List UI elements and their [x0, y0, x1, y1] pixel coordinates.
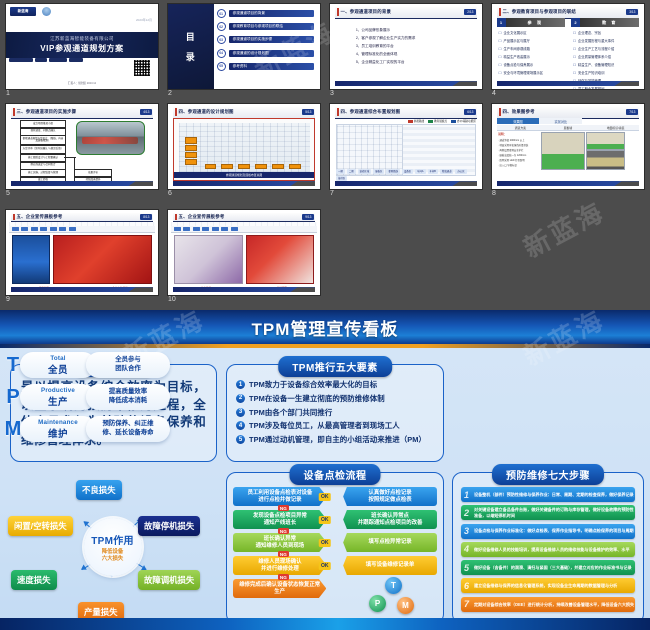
bullet: 4、管理标准化的全面体现 [356, 52, 482, 57]
letter-cn: 全员 [48, 362, 68, 376]
plan-marker [185, 152, 197, 158]
header-accent [175, 108, 177, 116]
flow-node: 参观通道规划方案设计 （路线、内容及展板规划） [20, 135, 67, 145]
flow-ok-badge: OK [319, 516, 332, 524]
toolbar-icons[interactable] [174, 227, 238, 231]
panel-seven-steps: 预防维修七大步骤 1 设备整机（部件）预防性维修与保养作业：日常、周期、定期的检… [452, 472, 644, 624]
page-indicator: 6/13 [464, 109, 476, 115]
seven-step: 3 设备点检与保养作业标准化：做好点检表、保养作业指导书，明确点检保养的项目与周… [461, 524, 635, 539]
slide-thumbnail-5[interactable]: 三、参观通道项目的实施步骤 4/13 成立项目推进小组 现状调查、问题点确认 参… [6, 104, 158, 189]
plan-chip: 车间B [428, 169, 438, 174]
slide-title: 四、效果图参考 [503, 109, 535, 115]
slide-number-10: 10 [168, 296, 176, 303]
plan-chip: 办公区 [455, 169, 466, 174]
slide-number-9: 9 [6, 296, 10, 303]
slide-thumbnail-10[interactable]: 五、企业宣传展板参考 9/13 ·企业愿景· ·发展历程· [168, 210, 320, 295]
letter-en: Total [50, 355, 65, 362]
letter-pill-word: Productive 生产 [20, 384, 96, 410]
slide-number-3: 3 [330, 90, 334, 97]
column-item: 安全与环境管理现场展示区 [499, 70, 565, 75]
image-icon[interactable] [59, 227, 66, 231]
seven-step: 2 对关键设备建立备品备件台账，做好关键备件的订购与库存管理，做好设备故障的预防… [461, 505, 635, 520]
flow-ok-badge: OK [319, 562, 332, 570]
plan-chip-row: 一期 二期 装修区域 展板区 参观路线 设备区 车间A 车间B 物流通道 办公区… [336, 169, 476, 181]
five-item: 4 TPM涉及每位员工，从最高管理者到现场工人 [236, 421, 436, 430]
slide-thumbnail-grid: 新蓝海 2023年12月 江苏新蓝海智能装备有限公司 VIP参观通道规划方案 汇… [0, 0, 650, 310]
flow-rows: 员工利用设备点检表对设备进行点检并做记录 OK 认真做好点检记录按照规定做点检表… [233, 487, 437, 619]
plan-marker [272, 164, 284, 170]
five-item: 5 TPM通过动机管理，即自主的小组活动来推进（PM） [236, 435, 436, 444]
slide-footer [335, 181, 478, 186]
five-number: 2 [236, 394, 245, 403]
flow-ng-badge: NG [278, 574, 289, 580]
loss-center: TPM作用 降低设备六大损失 [84, 518, 142, 576]
toc-row: 01 参观通道项目的背景 [217, 9, 314, 18]
five-text: TPM在设备一生建立彻底的预防维修体制 [249, 394, 385, 403]
plan-chip: 物流通道 [440, 169, 454, 174]
render-tabs[interactable]: 效果图 实景对比 [497, 118, 640, 124]
column-item: 企业生产工艺与流程介绍 [573, 46, 639, 51]
flow-side-node: 效果评价 [74, 169, 111, 177]
panel-tpm-letters: T Total 全员 全员参与团队合作 P Productive 生产 提高质量… [0, 350, 190, 454]
slide-thumbnail-9[interactable]: 五、企业宣传展板参考 8/13 ·党建展板· ·企业文化展板· [6, 210, 158, 295]
panel-title-seven: 预防维修七大步骤 [492, 464, 604, 485]
note-line: · 通道净宽 2000mm 以上 [498, 138, 538, 142]
seven-rows: 1 设备整机（部件）预防性维修与保养作业：日常、周期、定期的检查保养，做好保养记… [461, 487, 635, 619]
letter-desc: 全员参与团队合作 [115, 356, 141, 373]
flow-node: 方案评审（领导层确认 与意见反馈） [20, 145, 67, 155]
column-item: 员工职业发展规划 [573, 86, 639, 89]
plan-chip: 二期 [347, 169, 356, 174]
subtab-item[interactable]: 通道方案 [497, 125, 545, 130]
step-number: 2 [464, 508, 469, 518]
step-number: 6 [464, 581, 469, 591]
loss-chip-right-top: 故障停机损失 [138, 516, 200, 536]
step-number: 4 [464, 544, 469, 554]
render-image-top [586, 132, 624, 150]
toc-number: 04 [217, 49, 226, 58]
slide-header: 四、效果图参考 7/13 [497, 107, 640, 119]
step-number: 3 [464, 526, 469, 536]
slide-title: 二、参观教育项目与参观项目的联结 [503, 9, 576, 15]
plan-chip: 参观路线 [386, 169, 400, 174]
editor-toolbar[interactable] [9, 222, 155, 233]
legend-item: 办公/辅助功能区 [451, 119, 476, 123]
plan-marker [238, 164, 250, 170]
header-accent [175, 214, 177, 220]
column-item: 精益生产、设备管理知识 [573, 62, 639, 67]
toc-items: 01 参观通道项目的背景 02 参观教育项目与参观项目的联结 03 参观通道项目… [217, 9, 314, 84]
slide-title: 五、企业宣传展板参考 [17, 214, 63, 220]
flow-row: 维修完成后确认设备状态恢复正常生产 [233, 579, 339, 598]
page-indicator: 2/13 [464, 9, 476, 15]
letter-pill-word: Total 全员 [20, 352, 96, 378]
toolbar-icons[interactable] [12, 227, 76, 231]
insert-icon[interactable] [202, 227, 209, 231]
slide-thumbnail-1[interactable]: 新蓝海 2023年12月 江苏新蓝海智能装备有限公司 VIP参观通道规划方案 汇… [6, 4, 158, 89]
letter-row-p: P Productive 生产 提高质量效率降低成本消耗 [0, 382, 190, 412]
render-notes: 说明： · 通道净宽 2000mm 以上 · 地面采用环氧绿色防滑涂装 · 两侧… [498, 132, 538, 169]
render-image-bottom [586, 150, 624, 170]
column-number: 2 [571, 18, 580, 27]
letter-pill-desc: 全员参与团队合作 [86, 352, 170, 378]
board-footer [0, 618, 650, 630]
five-text: TPM通过动机管理，即自主的小组活动来推进（PM） [249, 435, 426, 444]
plan-chip: 接待区 [336, 176, 347, 181]
column-right: 2 教 育 企业理念、宗旨 企业发展历程与重大事件 企业生产工艺与流程介绍 企业… [571, 18, 639, 81]
toc-number: 03 [217, 35, 226, 44]
toc-text: 参观通道项目的背景 [229, 10, 314, 17]
plan-chip: 车间A [415, 169, 425, 174]
step-text: 建立设备维修与保养的信息化管理系统，实现设备全生命周期的数据管理与分析 [474, 583, 617, 588]
panel-five-elements: TPM推行五大要素 1 TPM致力于设备综合效率最大化的目标 2 TPM在设备一… [226, 364, 444, 462]
bold-icon[interactable] [12, 227, 19, 231]
panel-title-flow: 设备点检流程 [290, 464, 381, 485]
loss-chip-left-bottom: 速度损失 [11, 570, 57, 590]
bullet: 1、公司品牌形象展示 [356, 28, 482, 33]
slide-number-2: 2 [168, 90, 172, 97]
shape-icon[interactable] [212, 227, 219, 231]
column-item: 企业质量管理体系介绍 [573, 54, 639, 59]
slide-title: 四、参观通道的设计规划图 [179, 109, 234, 115]
slide-footer [497, 81, 640, 86]
seven-step: 4 做好设备维修人员的技能培训，提高设备维修人员的维修技能与设备维护的效率、水平 [461, 542, 635, 557]
seven-step: 1 设备整机（部件）预防性维修与保养作业：日常、周期、定期的检查保养，做好保养记… [461, 487, 635, 502]
slide-footer [497, 181, 640, 186]
site-photo [76, 121, 145, 155]
editor-toolbar[interactable] [171, 222, 317, 233]
slide-thumbnail-3[interactable]: 一、参观通道项目的背景 2/13 1、公司品牌形象展示 2、客户参观了解企业生产… [330, 4, 482, 89]
tab-render[interactable]: 效果图 [497, 118, 540, 124]
panel-title-five: TPM推行五大要素 [278, 356, 392, 377]
slide-thumbnail-2[interactable]: 目 录 01 参观通道项目的背景 02 参观教育项目与参观项目的联结 03 参观… [168, 4, 320, 89]
column-item: 企业发展历程与重大事件 [573, 38, 639, 43]
step-text: 做好设备（含备件）的润滑、清扫与紧固（三大基础），并建立对应的作业标准书与记录 [474, 565, 632, 570]
plan-legend: 参观路线 教育展板点 办公/辅助功能区 [408, 119, 476, 123]
flow-left-box: 维修人员现场确认并进行维修处理 [233, 556, 327, 575]
factory-layout-plan: 参观通道规划及展板布置总图 [173, 118, 316, 180]
toc-label-1: 目 [186, 30, 196, 43]
loss-center-title: TPM作用 [91, 532, 134, 547]
notes-title: 说明： [498, 132, 538, 136]
flow-connector [74, 157, 75, 172]
table-icon[interactable] [69, 227, 76, 231]
five-item: 3 TPM由各个部门共同推行 [236, 408, 436, 417]
page-indicator: 4/13 [140, 109, 152, 115]
flow-left-box: 维修完成后确认设备状态恢复正常生产 [233, 579, 326, 598]
toc-number: 01 [217, 9, 226, 18]
plan-marker [185, 145, 197, 151]
slide-footer [11, 181, 154, 186]
step-text: 设备整机（部件）预防性维修与保养作业：日常、周期、定期的检查保养，做好保养记录 [474, 492, 634, 497]
slide-title: 三、参观通道项目的实施步骤 [17, 109, 77, 115]
five-number: 4 [236, 421, 245, 430]
render-image-main [541, 132, 586, 170]
plan-marker [185, 137, 197, 143]
letter-cn: 生产 [48, 394, 68, 408]
letter-desc: 提高质量效率降低成本消耗 [109, 388, 147, 405]
toc-label-2: 录 [186, 50, 196, 63]
tpm-board: TPM管理宣传看板 TPM的含义 是以提高设备综合效率为目标，以全系统的预防维修… [0, 310, 650, 630]
page-indicator: 8/13 [140, 214, 152, 220]
bullet: 2、客户参观了解企业生产实力的需求 [356, 36, 482, 41]
bullet: 3、员工培训教育的平台 [356, 44, 482, 49]
flow-ng-badge: NG [278, 528, 289, 534]
poster-history [246, 235, 314, 284]
slide-number-6: 6 [168, 190, 172, 197]
toc-row: 02 参观教育项目与参观项目的联结 [217, 22, 314, 31]
five-item: 2 TPM在设备一生建立彻底的预防维修体制 [236, 394, 436, 403]
ruler [171, 222, 317, 226]
page-indicator: 7/13 [626, 109, 638, 115]
five-number: 5 [236, 435, 245, 444]
column-header: 2 教 育 [571, 18, 639, 27]
slide-number-7: 7 [330, 190, 334, 197]
column-header: 1 参 观 [497, 18, 565, 27]
loss-chip-top: 不良损失 [76, 480, 122, 500]
plan-chip: 装修区域 [358, 169, 372, 174]
seven-step: 6 建立设备维修与保养的信息化管理系统，实现设备全生命周期的数据管理与分析 [461, 578, 635, 593]
tab-compare[interactable]: 实景对比 [539, 118, 582, 124]
header-accent [337, 108, 339, 116]
slide-number-5: 5 [6, 190, 10, 197]
seven-step: 5 做好设备（含备件）的润滑、清扫与紧固（三大基础），并建立对应的作业标准书与记… [461, 560, 635, 575]
board-header: TPM管理宣传看板 [0, 310, 650, 344]
column-item: 生产车间参观线路 [499, 46, 565, 51]
board-title: TPM管理宣传看板 [252, 315, 399, 340]
flow-right-box: 班长确认异常点并跟踪通知点检项目的改善 [343, 510, 437, 529]
five-number: 3 [236, 408, 245, 417]
step-number: 5 [464, 563, 469, 573]
letter-en: Productive [41, 387, 75, 394]
plan-chip: 设备区 [402, 169, 413, 174]
ruler [9, 222, 155, 226]
note-line: · 两侧设置参观安全护栏 [498, 148, 538, 152]
title-caption: 汇报人：规划组 2023.12 [6, 81, 158, 85]
slide-body: 1、公司品牌形象展示 2、客户参观了解企业生产实力的需求 3、员工培训教育的平台… [335, 18, 482, 89]
toc-number: 05 [217, 62, 226, 71]
plan-caption: 参观通道规划及展板布置总图 [174, 172, 315, 178]
flow-ng-badge: NG [278, 551, 289, 557]
column-title: 教 育 [580, 20, 639, 26]
column-item: 设备点检与保养展示 [499, 62, 565, 67]
legend-item: 教育展板点 [428, 119, 447, 123]
letter-cn: 维护 [48, 426, 68, 440]
slide-footer [173, 287, 316, 292]
watermark: 新蓝海 [516, 192, 610, 266]
gear-p: P [369, 595, 386, 612]
toc-text: 参观通道项目的实施步骤 [229, 36, 314, 43]
flow-ng-badge: NG [278, 505, 289, 511]
slide-header: 四、参观通道的设计规划图 5/13 [173, 107, 316, 119]
column-left: 1 参 观 企业文化展示区 产品展示区与展厅 生产车间参观线路 精益生产改善展示… [497, 18, 565, 81]
step-text: 做好设备维修人员的技能培训，提高设备维修人员的维修技能与设备维护的效率、水平 [474, 547, 630, 552]
flow-row: 维修人员现场确认并进行维修处理 OK 填写设备维修记录单 NG [233, 556, 437, 575]
toc-number: 02 [217, 22, 226, 31]
panel-tpm-losses: TPM作用 降低设备六大损失 不良损失 故障停机损失 故障调机损失 产量损失 速… [10, 472, 215, 622]
loss-chip-left-top: 闲置/空转损失 [8, 516, 73, 536]
flow-left-box: 发现设备点检项目异常通知产线班长 [233, 510, 327, 529]
color-icon[interactable] [21, 227, 28, 231]
slide-thumbnail-4[interactable]: 二、参观教育项目与参观项目的联结 3/13 1 参 观 企业文化展示区 产品展示… [492, 4, 644, 89]
color-icon[interactable] [183, 227, 190, 231]
step-number: 1 [464, 490, 469, 500]
deck-title: VIP参观通道规划方案 [40, 43, 124, 54]
subtab-item[interactable]: 地面标识/涂装 [592, 125, 640, 130]
align-icon[interactable] [193, 227, 200, 231]
tpm-gear-cluster: T P M [367, 577, 419, 617]
toc-text: 参观教育项目与参观项目的联结 [229, 23, 314, 30]
poster-canvas [12, 235, 152, 284]
slide-title: 五、企业宣传展板参考 [179, 214, 225, 220]
seven-step: 7 定期对设备综合效率（OEE）进行统计分析，持续改善设备管理水平，降低设备六大… [461, 597, 635, 612]
five-text: TPM由各个部门共同推行 [249, 408, 332, 417]
plan-chip: 展板区 [373, 169, 384, 174]
flow-ok-badge: OK [319, 493, 332, 501]
plan-marker [185, 159, 197, 165]
plan-chip: 一期 [336, 169, 345, 174]
column-item: 精益生产改善展示 [499, 54, 565, 59]
plan-marker [255, 164, 267, 170]
flow-row: 班长确认异常通知维修人员到现场 OK 填写点检异常记录 NG [233, 533, 437, 552]
subtab-item[interactable]: 展板墙 [544, 125, 592, 130]
toc-text: 参考资料 [229, 63, 314, 70]
slide-header: 四、参观通道综合布置规划图 6/13 [335, 107, 478, 119]
qr-code [133, 59, 151, 77]
gear-m: M [397, 597, 414, 614]
flow-row: 发现设备点检项目异常通知产线班长 OK 班长确认异常点并跟踪通知点检项目的改善 … [233, 510, 437, 529]
poster-vision [174, 235, 242, 284]
toc-label-panel: 目 录 [168, 4, 214, 89]
slide-header: 五、企业宣传展板参考 9/13 [173, 213, 316, 223]
image-icon[interactable] [221, 227, 228, 231]
header-accent [499, 108, 501, 116]
title-band: 江苏新蓝海智能装备有限公司 VIP参观通道规划方案 [6, 32, 158, 58]
plan-marker [221, 164, 233, 170]
five-list: 1 TPM致力于设备综合效率最大化的目标 2 TPM在设备一生建立彻底的预防维修… [236, 380, 436, 457]
five-number: 1 [236, 380, 245, 389]
slide-footer [11, 287, 154, 292]
letter-row-m: M Maintenance 维护 预防保养、纠正维修、延长设备寿命 [0, 414, 190, 444]
slide-title: 一、参观通道项目的背景 [341, 9, 392, 15]
letter-pill-desc: 提高质量效率降低成本消耗 [86, 384, 170, 410]
loss-center-sub: 降低设备六大损失 [102, 549, 124, 563]
flow-ok-badge: OK [319, 539, 332, 547]
gear-t: T [385, 577, 402, 594]
header-accent [499, 8, 501, 16]
table-icon[interactable] [231, 227, 238, 231]
slide-title: 四、参观通道综合布置规划图 [341, 109, 401, 115]
five-item: 1 TPM致力于设备综合效率最大化的目标 [236, 380, 436, 389]
slide-thumbnail-8[interactable]: 四、效果图参考 7/13 效果图 实景对比 通道方案 展板墙 地面标识/涂装 说… [492, 104, 644, 189]
letter-pill-word: Maintenance 维护 [20, 416, 96, 442]
step-text: 设备点检与保养作业标准化：做好点检表、保养作业指导书，明确点检保养的项目与周期 [474, 528, 634, 533]
column-item: 企业文化展示区 [499, 30, 565, 35]
letter-en: Maintenance [38, 419, 78, 426]
slide-thumbnail-6[interactable]: 四、参观通道的设计规划图 5/13 参观通道规划及展板布置总图 [168, 104, 320, 189]
insert-icon[interactable] [40, 227, 47, 231]
header-accent [13, 108, 15, 116]
toc-text: 参观通道的设计规划图 [229, 50, 314, 57]
plan-marker [289, 164, 301, 170]
flow-left-box: 班长确认异常通知维修人员到现场 [233, 533, 327, 552]
plan-marker [205, 164, 217, 170]
letter-desc: 预防保养、纠正维修、延长设备寿命 [102, 420, 153, 437]
step-text: 对关键设备建立备品备件台账，做好关键备件的订购与库存管理，做好设备故障的预防性准… [474, 507, 635, 518]
slide-header: 三、参观通道项目的实施步骤 4/13 [11, 107, 154, 119]
toc-row: 04 参观通道的设计规划图 [217, 49, 314, 58]
header-accent [13, 214, 15, 220]
decorative-icon [42, 7, 51, 16]
legend-item: 参观路线 [408, 119, 424, 123]
title-tags [9, 58, 83, 62]
flow-right-box: 认真做好点检记录按照规定做点检表 [343, 487, 437, 506]
note-line: · 照明采用 LED 灯带照明 [498, 158, 538, 162]
board-content: TPM的含义 是以提高设备综合效率为目标，以全系统的预防维修为过程，全体人员参与… [0, 350, 650, 616]
five-text: TPM涉及每位员工，从最高管理者到现场工人 [249, 421, 400, 430]
page-indicator: 3/13 [626, 9, 638, 15]
step-text: 定期对设备综合效率（OEE）进行统计分析，持续改善设备管理水平，降低设备六大损失 [474, 602, 634, 607]
slide-number-4: 4 [492, 90, 496, 97]
company-name: 江苏新蓝海智能装备有限公司 [50, 36, 114, 42]
company-logo: 新蓝海 [10, 7, 36, 16]
toc-row: 03 参观通道项目的实施步骤 [217, 35, 314, 44]
five-text: TPM致力于设备综合效率最大化的目标 [249, 380, 377, 389]
slide-number-1: 1 [6, 90, 10, 97]
bold-icon[interactable] [174, 227, 181, 231]
title-date: 2023年12月 [136, 18, 152, 22]
slide-header: 一、参观通道项目的背景 2/13 [335, 7, 478, 19]
poster-culture [53, 235, 151, 284]
board-divider [0, 344, 650, 348]
slide-footer [173, 181, 316, 186]
poster-party [12, 235, 50, 284]
column-number: 1 [497, 18, 506, 27]
flow-right-box: 填写设备维修记录单 [343, 556, 437, 575]
flow-row: 员工利用设备点检表对设备进行点检并做记录 OK 认真做好点检记录按照规定做点检表… [233, 487, 437, 506]
column-item: 企业理念、宗旨 [573, 30, 639, 35]
align-icon[interactable] [31, 227, 38, 231]
column-item: 产品展示区与展厅 [499, 38, 565, 43]
step-number: 7 [464, 599, 469, 609]
render-subtabs[interactable]: 通道方案 展板墙 地面标识/涂装 [497, 125, 640, 131]
panel-inspection-flow: 设备点检流程 员工利用设备点检表对设备进行点检并做记录 OK 认真做好点检记录按… [226, 472, 444, 624]
note-line: · 地面采用环氧绿色防滑涂装 [498, 143, 538, 147]
slide-number-8: 8 [492, 190, 496, 197]
page-indicator: 5/13 [302, 109, 314, 115]
poster-canvas [174, 235, 314, 284]
slide-header: 五、企业宣传展板参考 8/13 [11, 213, 154, 223]
header-accent [337, 8, 339, 16]
bullet: 5、企业精益化工厂实现的平台 [356, 60, 482, 65]
column-item: 安全生产知识培训 [573, 70, 639, 75]
slide-thumbnail-7[interactable]: 四、参观通道综合布置规划图 6/13 参观路线 教育展板点 办公/辅助功能区 一… [330, 104, 482, 189]
page-indicator: 9/13 [302, 214, 314, 220]
flow-left-box: 员工利用设备点检表对设备进行点检并做记录 [233, 487, 327, 506]
note-line: · 展板高度统一为 1200mm [498, 153, 538, 157]
slide-footer [335, 81, 478, 86]
flow-right-box: 填写点检异常记录 [343, 533, 437, 552]
loss-chip-right-bottom: 故障调机损失 [138, 570, 200, 590]
column-title: 参 观 [506, 20, 565, 26]
note-line: · 出入口 导视标识 [498, 163, 538, 167]
letter-pill-desc: 预防保养、纠正维修、延长设备寿命 [86, 416, 170, 442]
letter-row-t: T Total 全员 全员参与团队合作 [0, 350, 190, 380]
slide-header: 二、参观教育项目与参观项目的联结 3/13 [497, 7, 640, 19]
toc-row: 05 参考资料 [217, 62, 314, 71]
shape-icon[interactable] [50, 227, 57, 231]
